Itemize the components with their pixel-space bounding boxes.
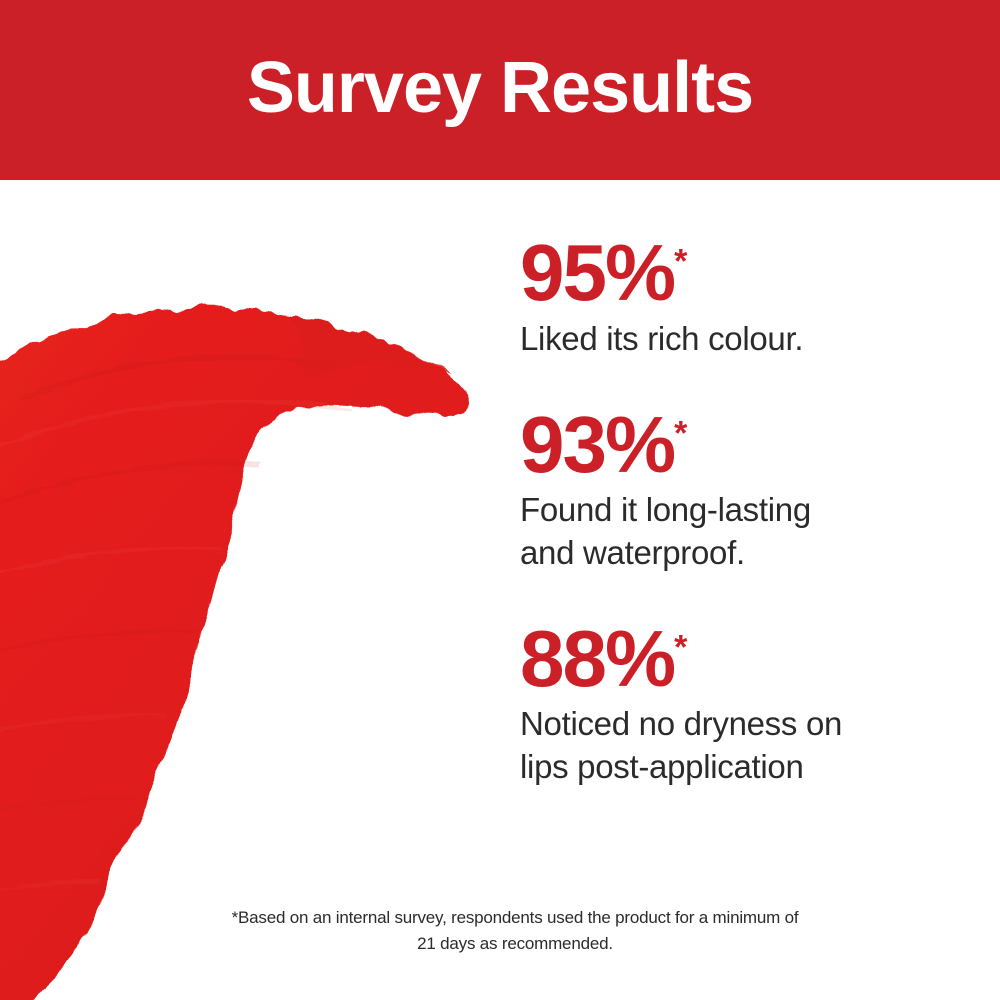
stat-caption-line: lips post-application xyxy=(520,746,960,788)
lipstick-swatch-image xyxy=(0,250,520,1000)
footnote-line: 21 days as recommended. xyxy=(120,931,910,957)
header-banner: Survey Results xyxy=(0,0,1000,180)
stat-caption-line: Noticed no dryness on xyxy=(520,703,960,745)
footnote: *Based on an internal survey, respondent… xyxy=(120,905,910,956)
stat-caption-line: Found it long-lasting xyxy=(520,489,960,531)
page-title: Survey Results xyxy=(247,52,753,128)
survey-results-graphic: Survey Results xyxy=(0,0,1000,1000)
stat-asterisk: * xyxy=(674,628,687,666)
stat-percentage: 88% xyxy=(520,614,674,703)
stat-item: 88%* Noticed no dryness on lips post-app… xyxy=(520,618,960,788)
stat-percentage: 95% xyxy=(520,228,674,317)
stat-asterisk: * xyxy=(674,414,687,452)
stat-caption-line: and waterproof. xyxy=(520,532,960,574)
stat-caption: Noticed no dryness on lips post-applicat… xyxy=(520,703,960,787)
statistics-list: 95%* Liked its rich colour. 93%* Found i… xyxy=(520,232,960,788)
stat-value: 88%* xyxy=(520,618,960,700)
stat-item: 95%* Liked its rich colour. xyxy=(520,232,960,360)
footnote-line: *Based on an internal survey, respondent… xyxy=(120,905,910,931)
stat-caption: Liked its rich colour. xyxy=(520,318,960,360)
stat-percentage: 93% xyxy=(520,400,674,489)
stat-caption-line: Liked its rich colour. xyxy=(520,318,960,360)
stat-caption: Found it long-lasting and waterproof. xyxy=(520,489,960,573)
stat-asterisk: * xyxy=(674,242,687,280)
stat-value: 95%* xyxy=(520,232,960,314)
stat-item: 93%* Found it long-lasting and waterproo… xyxy=(520,404,960,574)
stat-value: 93%* xyxy=(520,404,960,486)
